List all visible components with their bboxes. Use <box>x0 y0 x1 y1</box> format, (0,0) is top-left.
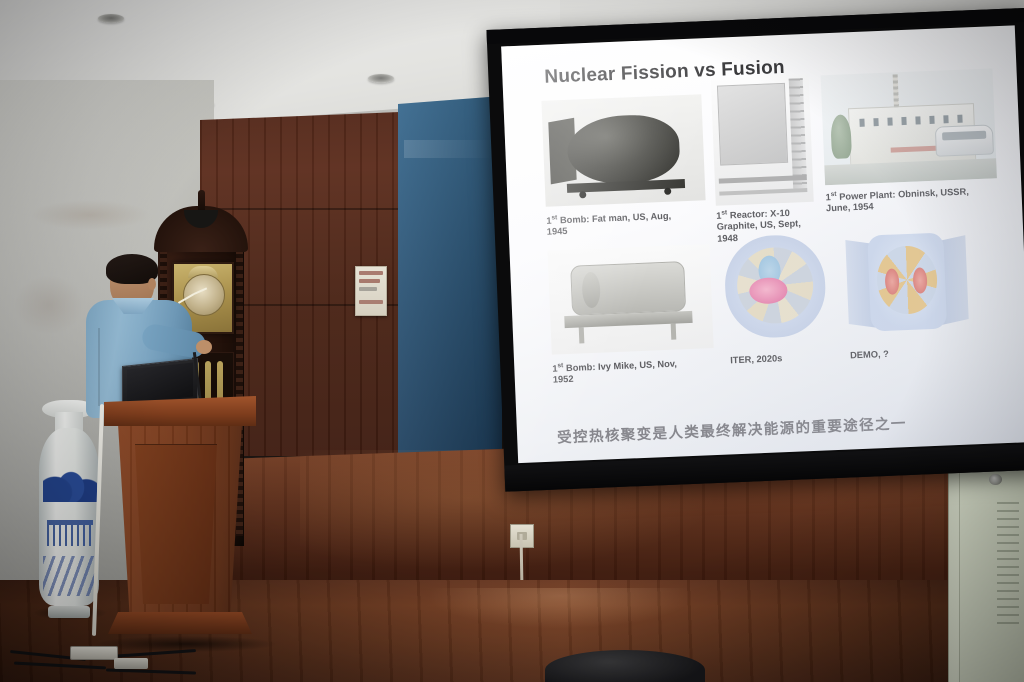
x10-graphite-reactor-photo <box>711 74 814 206</box>
wooden-podium <box>104 396 256 648</box>
power-adapter <box>114 658 148 669</box>
shirt-fold <box>98 328 100 406</box>
vase-foot <box>48 606 90 618</box>
wall-notice-sign <box>355 266 387 316</box>
cabinet-lock-icon[interactable] <box>989 474 1002 485</box>
metal-storage-cabinet[interactable] <box>948 448 1024 682</box>
foreground-object <box>545 650 705 682</box>
caption-demo: DEMO, ? <box>850 345 992 362</box>
vase-water-motif <box>43 556 97 596</box>
caption-fat-man: 1st Bomb: Fat man, US, Aug, 1945 <box>546 209 689 239</box>
vase-pavilion-motif <box>47 520 93 546</box>
vase-mountain-motif <box>43 454 97 502</box>
wall-stain <box>14 275 84 335</box>
power-adapter <box>70 646 118 660</box>
presenter-ear <box>148 278 156 290</box>
ceiling-downlight <box>368 74 394 83</box>
projected-slide: Nuclear Fission vs Fusion <box>501 25 1024 463</box>
caption-ivy-mike: 1st Bomb: Ivy Mike, US, Nov, 1952 <box>552 357 695 387</box>
obninsk-power-plant-photo <box>821 68 997 185</box>
blue-white-porcelain-vase <box>38 400 100 618</box>
ceiling-downlight <box>98 14 124 23</box>
podium-panel-inset <box>132 444 222 606</box>
podium-top-surface <box>104 396 256 426</box>
presenter-hand <box>196 340 212 354</box>
wall-stain <box>30 200 150 230</box>
slide-bottom-note: 受控热核聚变是人类最终解决能源的重要途径之一 <box>557 412 907 447</box>
demo-reactor-diagram <box>841 223 973 340</box>
blue-panel-highlight <box>404 140 494 158</box>
floor-reflection <box>430 588 690 628</box>
projection-screen: Nuclear Fission vs Fusion <box>486 8 1024 492</box>
fat-man-bomb-photo <box>541 94 705 206</box>
floor-cable-bundle <box>10 636 200 680</box>
podium-base <box>108 612 252 634</box>
ivy-mike-device-photo <box>548 244 714 355</box>
iter-tokamak-diagram <box>717 229 833 345</box>
caption-obninsk: 1st Power Plant: Obninsk, USSR, June, 19… <box>825 185 986 215</box>
vase-body <box>39 428 99 606</box>
cabinet-vent-slots <box>997 502 1019 626</box>
lecture-hall-scene: Nuclear Fission vs Fusion <box>0 0 1024 682</box>
